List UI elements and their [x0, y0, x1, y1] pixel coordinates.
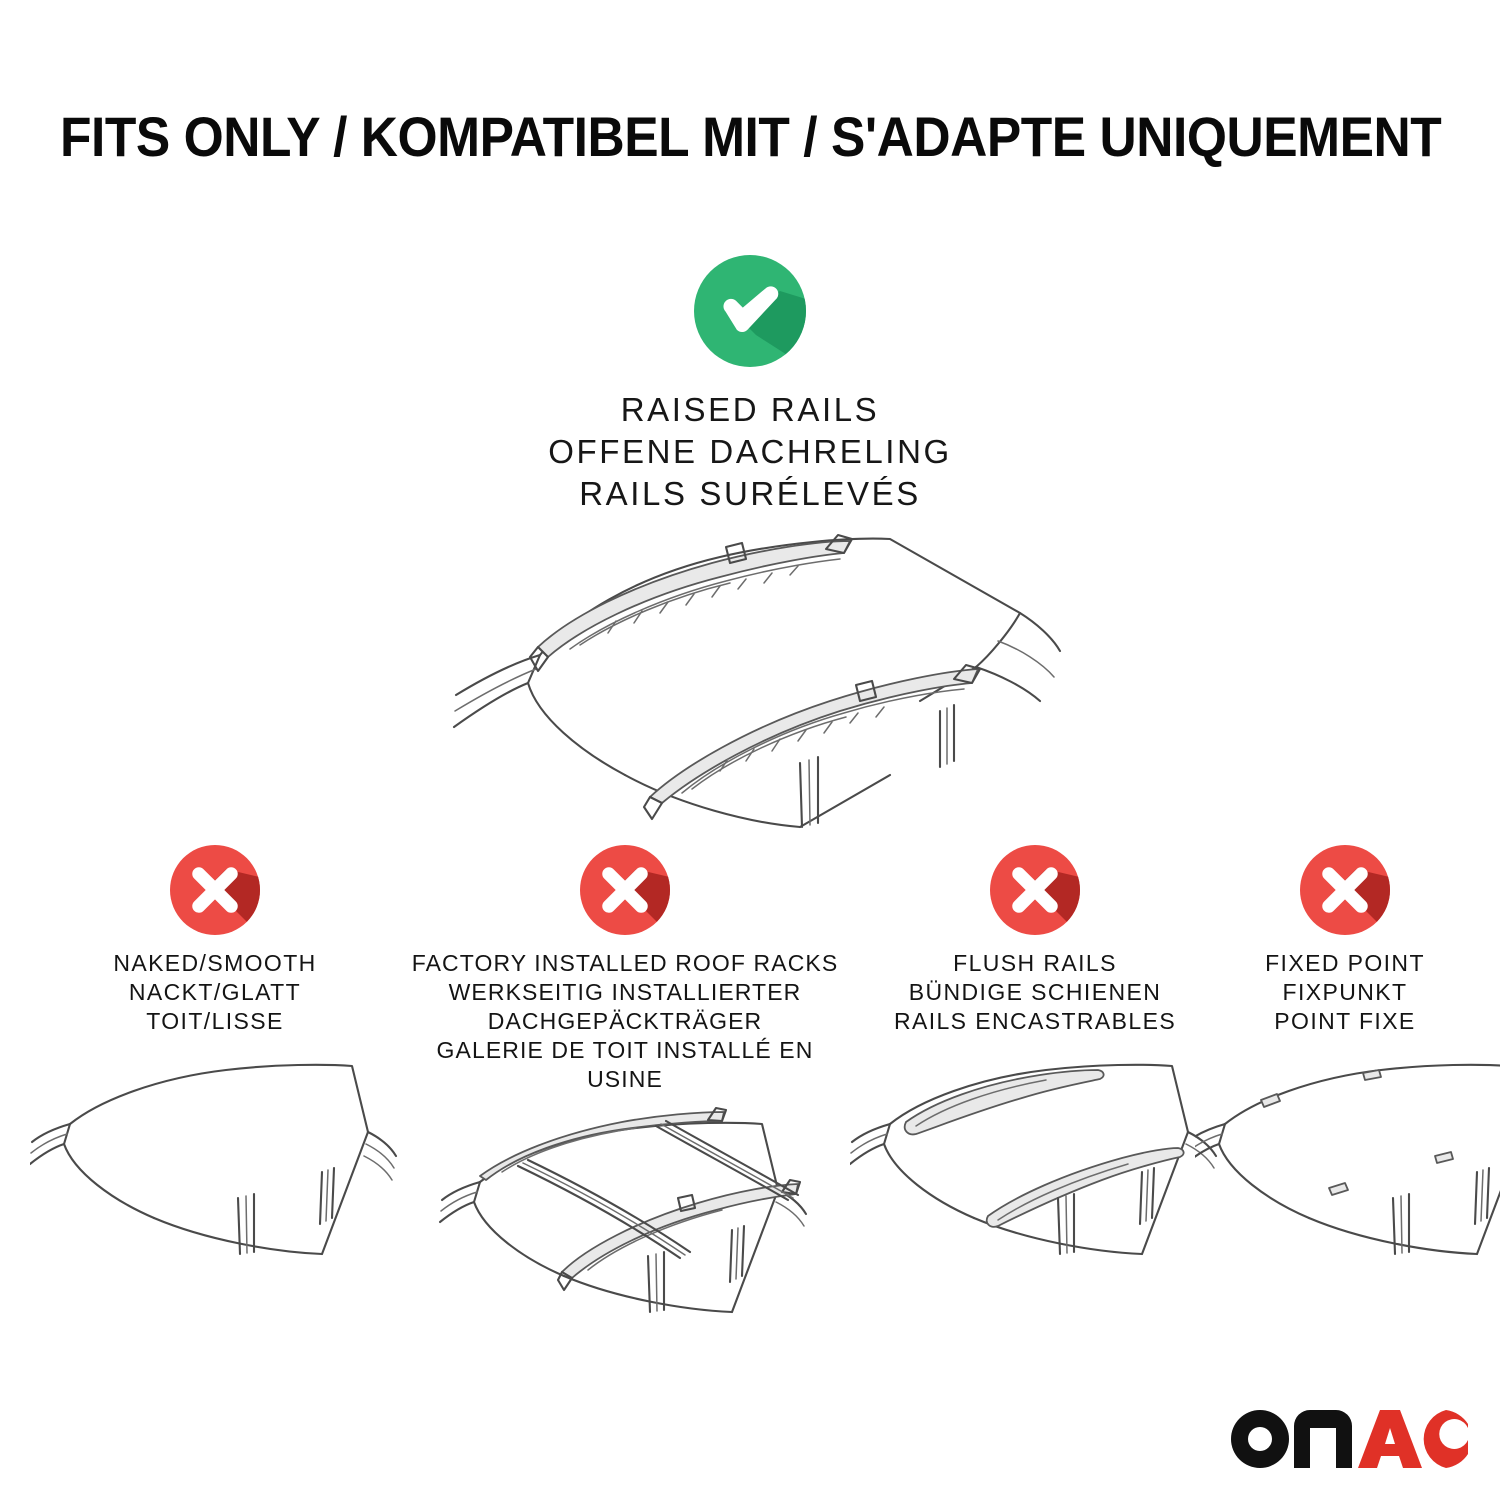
- incompatible-labels-fixed-point: FIXED POINT FIXPUNKT POINT FIXE: [1195, 949, 1495, 1036]
- incompatible-item-naked-smooth: NAKED/SMOOTH NACKT/GLATT TOIT/LISSE: [30, 845, 400, 1283]
- label-line: FIXPUNKT: [1195, 978, 1495, 1007]
- flush-rails-illustration: [850, 1048, 1220, 1283]
- label-line: FLUSH RAILS: [850, 949, 1220, 978]
- incompatible-item-factory-roof-racks: FACTORY INSTALLED ROOF RACKS WERKSEITIG …: [400, 845, 850, 1341]
- label-line: POINT FIXE: [1195, 1007, 1495, 1036]
- check-circle-icon: [694, 255, 806, 367]
- label-line: FIXED POINT: [1195, 949, 1495, 978]
- label-line: FACTORY INSTALLED ROOF RACKS: [400, 949, 850, 978]
- label-line: WERKSEITIG INSTALLIERTER: [400, 978, 850, 1007]
- label-line: NACKT/GLATT: [30, 978, 400, 1007]
- compatible-labels: RAISED RAILS OFFENE DACHRELING RAILS SUR…: [0, 389, 1500, 515]
- incompatible-labels-factory-roof-racks: FACTORY INSTALLED ROOF RACKS WERKSEITIG …: [400, 949, 850, 1094]
- x-circle-icon: [580, 845, 670, 935]
- factory-roof-racks-illustration: [400, 1106, 850, 1341]
- compatible-label-de: OFFENE DACHRELING: [0, 431, 1500, 473]
- incompatible-labels-flush-rails: FLUSH RAILS BÜNDIGE SCHIENEN RAILS ENCAS…: [850, 949, 1220, 1036]
- label-line: GALERIE DE TOIT INSTALLÉ EN USINE: [400, 1036, 850, 1094]
- label-line: BÜNDIGE SCHIENEN: [850, 978, 1220, 1007]
- x-circle-icon: [990, 845, 1080, 935]
- label-line: NAKED/SMOOTH: [30, 949, 400, 978]
- fixed-point-roof-illustration: [1195, 1048, 1495, 1283]
- label-line: TOIT/LISSE: [30, 1007, 400, 1036]
- label-line: DACHGEPÄCKTRÄGER: [400, 1007, 850, 1036]
- x-mark-glyph: [990, 845, 1080, 935]
- x-mark-glyph: [170, 845, 260, 935]
- compatible-section: RAISED RAILS OFFENE DACHRELING RAILS SUR…: [0, 255, 1500, 515]
- x-mark-glyph: [1300, 845, 1390, 935]
- incompatible-labels-naked-smooth: NAKED/SMOOTH NACKT/GLATT TOIT/LISSE: [30, 949, 400, 1036]
- check-mark-glyph: [694, 255, 806, 367]
- incompatible-item-fixed-point: FIXED POINT FIXPUNKT POINT FIXE: [1195, 845, 1495, 1283]
- x-circle-icon: [170, 845, 260, 935]
- raised-rails-illustration: [420, 505, 1090, 835]
- incompatible-section: NAKED/SMOOTH NACKT/GLATT TOIT/LISSE: [0, 845, 1500, 1315]
- x-mark-glyph: [580, 845, 670, 935]
- naked-smooth-roof-illustration: [30, 1048, 400, 1283]
- label-line: RAILS ENCASTRABLES: [850, 1007, 1220, 1036]
- compatible-label-en: RAISED RAILS: [0, 389, 1500, 431]
- page-title: FITS ONLY / KOMPATIBEL MIT / S'ADAPTE UN…: [60, 104, 1440, 170]
- x-circle-icon: [1300, 845, 1390, 935]
- omac-logo: [1230, 1408, 1468, 1470]
- incompatible-item-flush-rails: FLUSH RAILS BÜNDIGE SCHIENEN RAILS ENCAS…: [850, 845, 1220, 1283]
